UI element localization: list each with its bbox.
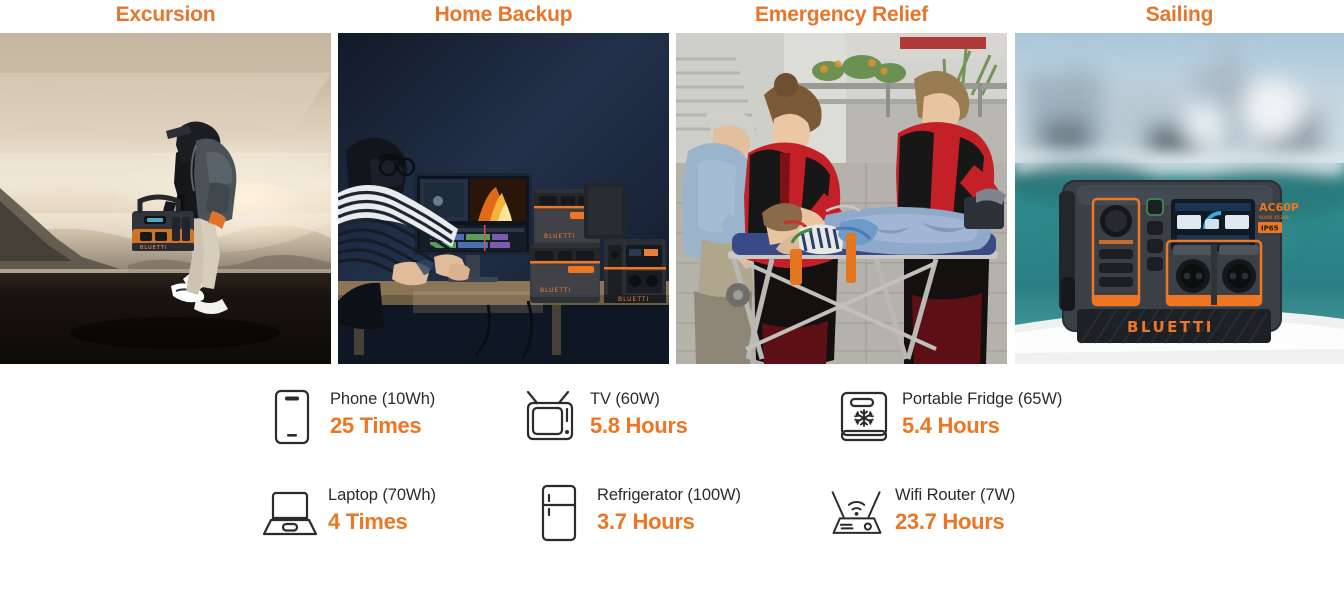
appliance-text: Portable Fridge (65W) 5.4 Hours xyxy=(902,385,1062,440)
appliance-grid: Phone (10Wh) 25 Times TV (60W) 5.8 Hours xyxy=(0,385,1344,590)
appliance-item-wifi-router[interactable]: Wifi Router (7W) 23.7 Hours xyxy=(829,481,1015,545)
page-root: Excursion xyxy=(0,0,1344,590)
scenario-photo-emergency-relief xyxy=(676,33,1007,364)
scenario-emergency-relief[interactable]: Emergency Relief xyxy=(676,0,1007,364)
appliance-text: Phone (10Wh) 25 Times xyxy=(330,385,435,440)
svg-text:BLUETTI: BLUETTI xyxy=(140,245,167,251)
wifi-router-icon xyxy=(829,481,885,545)
appliance-name: Phone (10Wh) xyxy=(330,389,435,410)
scenario-photo-sailing: AC60P 600W 403Wh IP65 xyxy=(1015,33,1344,364)
tv-icon xyxy=(524,385,580,449)
svg-text:IP65: IP65 xyxy=(1261,225,1279,233)
appliance-runtime: 5.8 Hours xyxy=(590,412,688,440)
appliance-name: Wifi Router (7W) xyxy=(895,485,1015,506)
scenario-photo-excursion: BLUETTI xyxy=(0,33,331,364)
refrigerator-icon xyxy=(531,481,587,545)
appliance-name: Refrigerator (100W) xyxy=(597,485,741,506)
svg-text:BLUETTI: BLUETTI xyxy=(1127,318,1214,336)
appliance-text: Laptop (70Wh) 4 Times xyxy=(328,481,436,536)
appliance-runtime: 3.7 Hours xyxy=(597,508,741,536)
scenario-title: Home Backup xyxy=(338,0,669,32)
appliance-text: TV (60W) 5.8 Hours xyxy=(590,385,688,440)
scenario-sailing[interactable]: Sailing xyxy=(1015,0,1344,364)
portable-fridge-icon xyxy=(836,385,892,449)
scenario-title: Emergency Relief xyxy=(676,0,1007,32)
scenario-strip: Excursion xyxy=(0,0,1344,364)
svg-text:BLUETTI: BLUETTI xyxy=(540,287,571,294)
scenario-title: Sailing xyxy=(1015,0,1344,32)
appliance-name: Laptop (70Wh) xyxy=(328,485,436,506)
appliance-name: Portable Fridge (65W) xyxy=(902,389,1062,410)
appliance-item-tv[interactable]: TV (60W) 5.8 Hours xyxy=(524,385,688,449)
scenario-excursion[interactable]: Excursion xyxy=(0,0,331,364)
appliance-item-refrigerator[interactable]: Refrigerator (100W) 3.7 Hours xyxy=(531,481,741,545)
svg-text:600W 403Wh: 600W 403Wh xyxy=(1259,215,1290,221)
appliance-text: Refrigerator (100W) 3.7 Hours xyxy=(597,481,741,536)
laptop-icon xyxy=(262,481,318,545)
appliance-name: TV (60W) xyxy=(590,389,688,410)
appliance-item-laptop[interactable]: Laptop (70Wh) 4 Times xyxy=(262,481,436,545)
svg-text:BLUETTI: BLUETTI xyxy=(618,296,649,303)
appliance-runtime: 23.7 Hours xyxy=(895,508,1015,536)
scenario-photo-home-backup: BLUETTI BLUETTI xyxy=(338,33,669,364)
appliance-runtime: 5.4 Hours xyxy=(902,412,1062,440)
phone-icon xyxy=(264,385,320,449)
appliance-item-phone[interactable]: Phone (10Wh) 25 Times xyxy=(264,385,435,449)
scenario-title: Excursion xyxy=(0,0,331,32)
appliance-runtime: 4 Times xyxy=(328,508,436,536)
appliance-item-portable-fridge[interactable]: Portable Fridge (65W) 5.4 Hours xyxy=(836,385,1062,449)
appliance-text: Wifi Router (7W) 23.7 Hours xyxy=(895,481,1015,536)
svg-text:BLUETTI: BLUETTI xyxy=(544,233,575,240)
svg-text:AC60P: AC60P xyxy=(1259,201,1299,214)
scenario-home-backup[interactable]: Home Backup xyxy=(338,0,669,364)
appliance-runtime: 25 Times xyxy=(330,412,435,440)
